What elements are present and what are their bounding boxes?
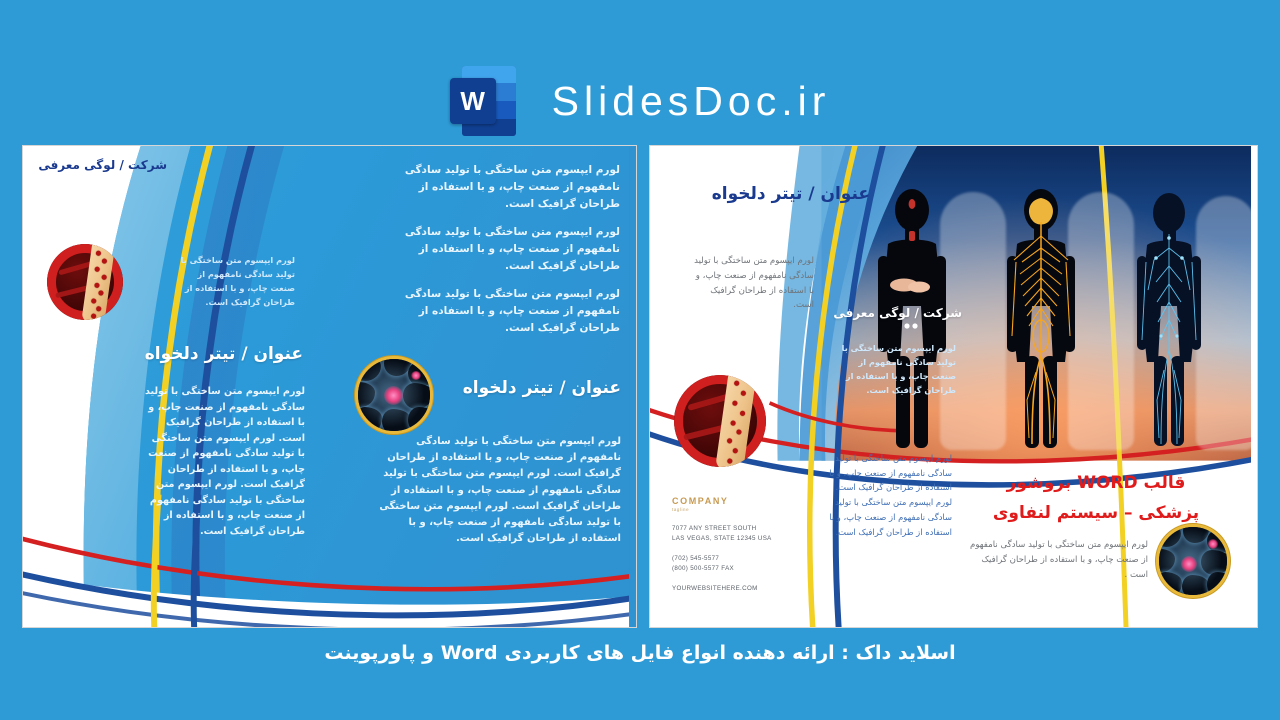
- cover-body: لورم ایپسوم متن ساختگی با تولید سادگی نا…: [968, 538, 1148, 582]
- cover-title-line-1: قالب WORD بروشور: [960, 471, 1232, 495]
- right-middle-body: لورم ایپسوم متن ساختگی با تولید سادگی نا…: [828, 451, 952, 539]
- company-website[interactable]: YOURWEBSITEHERE.COM: [672, 584, 822, 594]
- anatomy-figures-image: [822, 146, 1258, 462]
- figure-lymphatic-system: [1134, 190, 1204, 452]
- right-company-body: لورم ایپسوم متن ساختگی با تولید سادگی نا…: [834, 342, 956, 398]
- company-name: COMPANY: [672, 496, 822, 506]
- figure-shadow-3: [1196, 196, 1256, 450]
- company-fax: (800) 500-5577 FAX: [672, 564, 822, 574]
- right-company-heading: شرکت / لوگی معرفی: [832, 306, 962, 320]
- artery-image-left: [47, 244, 123, 320]
- left-lower-left-body: لورم ایپسوم متن ساختگی با تولید سادگی نا…: [143, 384, 305, 539]
- left-column-paragraph-2: لورم ایپسوم متن ساختگی با تولید سادگی نا…: [375, 224, 620, 275]
- left-lower-left-title: عنوان / تیتر دلخواه: [143, 344, 303, 364]
- company-address-line-1: 7077 ANY STREET SOUTH: [672, 524, 822, 534]
- company-tagline: tagline: [672, 507, 822, 512]
- left-artery-caption: لورم ایپسوم متن ساختگی با تولید سادگی نا…: [171, 254, 295, 310]
- left-lower-right-body: لورم ایپسوم متن ساختگی با تولید سادگی نا…: [375, 434, 621, 547]
- left-column-paragraph-3: لورم ایپسوم متن ساختگی با تولید سادگی نا…: [375, 286, 620, 337]
- word-logo-icon: W: [450, 64, 516, 138]
- left-company-heading: شرکت / لوگی معرفی: [37, 158, 167, 172]
- brochure-page-outside[interactable]: عنوان / تیتر دلخواه لورم ایپسوم متن ساخت…: [649, 145, 1258, 628]
- artery-image-right: [674, 375, 766, 467]
- cell-image-right: [1156, 524, 1230, 598]
- company-info-card: COMPANY tagline 7077 ANY STREET SOUTH LA…: [672, 496, 822, 594]
- brochure-page-inside[interactable]: شرکت / لوگی معرفی لورم ایپسوم متن ساختگی…: [22, 145, 637, 628]
- right-main-title: عنوان / تیتر دلخواه: [690, 184, 870, 204]
- left-column-paragraph-1: لورم ایپسوم متن ساختگی با تولید سادگی نا…: [375, 162, 620, 213]
- footer-caption: اسلاید داک : ارائه دهنده انواع فایل های …: [0, 642, 1280, 664]
- company-phone: (702) 545-5577: [672, 554, 822, 564]
- company-address-line-2: LAS VEGAS, STATE 12345 USA: [672, 534, 822, 544]
- brand-name: SlidesDoc.ir: [552, 78, 831, 125]
- left-lower-right-title: عنوان / تیتر دلخواه: [451, 378, 621, 398]
- word-logo-letter: W: [450, 78, 496, 124]
- cell-image-left: [355, 356, 433, 434]
- figure-nervous-system: [1004, 186, 1078, 452]
- brand-header: W SlidesDoc.ir: [0, 58, 1280, 144]
- right-main-body: لورم ایپسوم متن ساختگی با تولید سادگی نا…: [690, 254, 814, 313]
- cover-title-line-2: پزشکی – سیستم لنفاوی: [960, 501, 1232, 525]
